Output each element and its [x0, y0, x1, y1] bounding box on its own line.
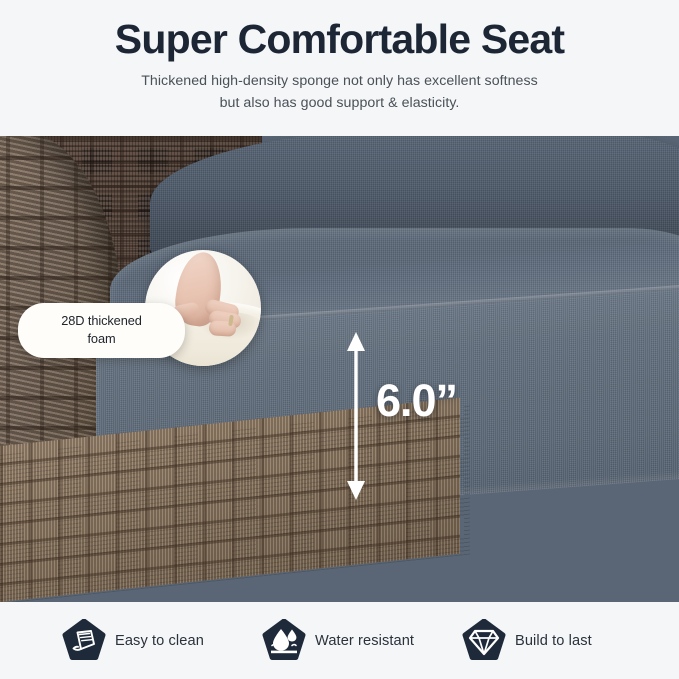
feature-label: Easy to clean	[115, 633, 204, 649]
feature-bar: Easy to clean Water resistant	[0, 602, 679, 679]
diamond-icon	[462, 619, 506, 663]
feature-easy-to-clean: Easy to clean	[62, 619, 262, 663]
product-feature-image: Super Comfortable Seat Thickened high-de…	[0, 0, 679, 679]
callout-line-2: foam	[30, 330, 173, 348]
subtitle-line-2: but also has good support & elasticity.	[0, 92, 679, 114]
product-photo: 28D thickened foam 6.0”	[0, 136, 679, 602]
feature-label: Build to last	[515, 633, 592, 649]
feature-water-resistant: Water resistant	[262, 619, 462, 663]
callout-line-1: 28D thickened	[30, 312, 173, 330]
dimension-label: 6.0”	[376, 378, 457, 423]
feature-label: Water resistant	[315, 633, 414, 649]
hand-wiping-cloth-icon	[62, 619, 106, 663]
subtitle-line-1: Thickened high-density sponge not only h…	[0, 63, 679, 92]
page-title: Super Comfortable Seat	[0, 0, 679, 63]
foam-callout-badge: 28D thickened foam	[18, 303, 185, 358]
double-headed-vertical-arrow-icon	[344, 332, 368, 500]
header-section: Super Comfortable Seat Thickened high-de…	[0, 0, 679, 136]
water-droplet-icon	[262, 619, 306, 663]
feature-build-to-last: Build to last	[462, 619, 592, 663]
